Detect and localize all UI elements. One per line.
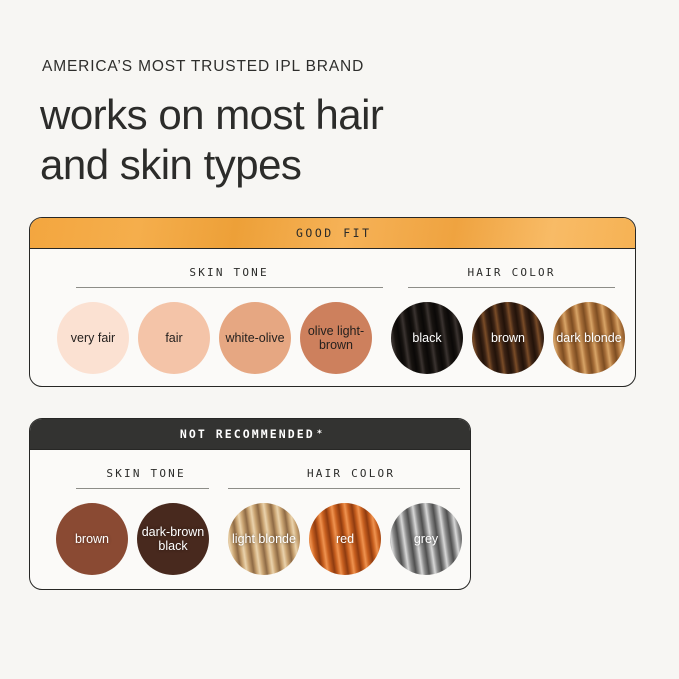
swatch-hair-black: black [391,302,463,374]
swatch-skin-dark-brown-black: dark-brown black [137,503,209,575]
swatch-label: dark-brown black [137,525,209,553]
headline-line-1: works on most hair [40,90,383,140]
swatch-skin-very-fair: very fair [57,302,129,374]
bad-skin-tone-rule [76,488,209,489]
good-hair-color-header: HAIR COLOR [398,266,623,279]
page-title: works on most hair and skin types [40,90,383,189]
swatch-hair-grey: grey [390,503,462,575]
swatch-label: olive light-brown [300,324,372,352]
swatch-skin-white-olive: white-olive [219,302,291,374]
not-recommended-banner: NOT RECOMMENDED* [30,419,470,450]
swatch-hair-light-blonde: light blonde [228,503,300,575]
swatch-skin-brown: brown [56,503,128,575]
good-skin-tone-header: SKIN TONE [58,266,398,279]
swatch-skin-olive-light-brown: olive light-brown [300,302,372,374]
swatch-hair-dark-blonde: dark blonde [553,302,625,374]
footnote-asterisk: * [315,429,322,439]
good-skin-tone-rule [76,287,383,288]
good-fit-card: GOOD FIT SKIN TONE HAIR COLOR very fair … [29,217,636,387]
swatch-label: brown [73,532,111,546]
swatch-label: red [334,532,356,546]
not-recommended-card: NOT RECOMMENDED* SKIN TONE HAIR COLOR br… [29,418,471,590]
swatch-label: light blonde [230,532,298,546]
good-fit-banner: GOOD FIT [30,218,635,249]
swatch-label: grey [412,532,440,546]
kicker-text: AMERICA’S MOST TRUSTED IPL BRAND [42,58,364,76]
swatch-label: black [410,331,443,345]
bad-skin-tone-header: SKIN TONE [56,467,234,480]
swatch-label: white-olive [223,331,286,345]
swatch-label: fair [163,331,184,345]
swatch-hair-brown: brown [472,302,544,374]
good-fit-banner-label: GOOD FIT [293,226,371,240]
bad-hair-color-rule [228,488,460,489]
swatch-label: dark blonde [554,331,623,345]
swatch-label: brown [489,331,527,345]
good-hair-color-rule [408,287,615,288]
not-recommended-banner-label: NOT RECOMMENDED [178,427,315,441]
infographic-page: AMERICA’S MOST TRUSTED IPL BRAND works o… [0,0,679,679]
headline-line-2: and skin types [40,140,383,190]
swatch-skin-fair: fair [138,302,210,374]
swatch-label: very fair [69,331,117,345]
swatch-hair-red: red [309,503,381,575]
bad-hair-color-header: HAIR COLOR [235,467,465,480]
